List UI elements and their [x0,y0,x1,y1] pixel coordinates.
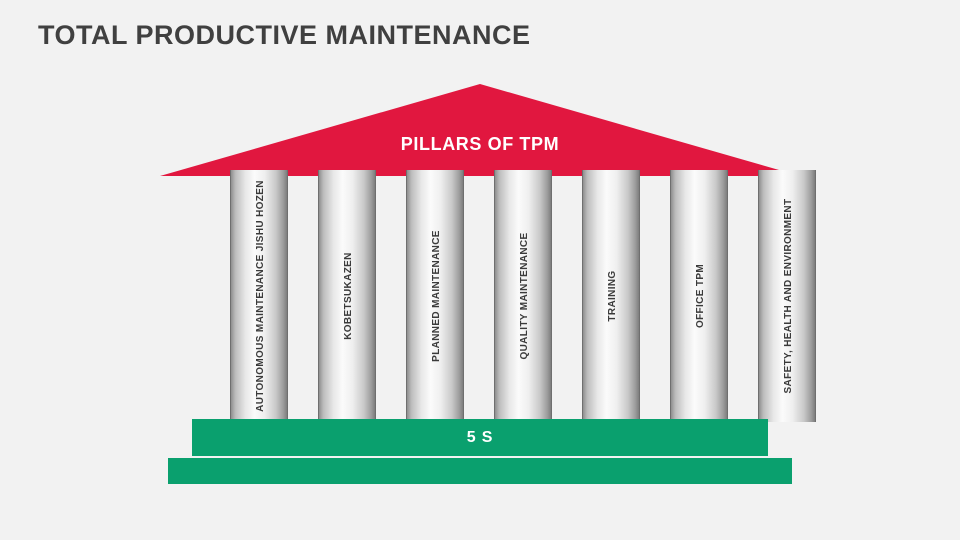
pillar-label: SAFETY, HEALTH AND ENVIRONMENT [759,170,816,422]
pillar-label-wrap: KOBETSUKAZEN [319,170,376,422]
page-title: TOTAL PRODUCTIVE MAINTENANCE [38,20,531,51]
pillar-label-wrap: PLANNED MAINTENANCE [407,170,464,422]
pillar-label-wrap: TRAINING [583,170,640,422]
roof-triangle-icon [160,84,800,176]
base-lower-block [168,458,792,484]
roof-label: PILLARS OF TPM [160,134,800,155]
pillar-label: AUTONOMOUS MAINTENANCE JISHU HOZEN [231,170,288,422]
pillar-training[interactable]: TRAINING [582,170,640,422]
pillar-label: TRAINING [583,170,640,422]
pillar-office-tpm[interactable]: OFFICE TPM [670,170,728,422]
pillar-planned-maintenance[interactable]: PLANNED MAINTENANCE [406,170,464,422]
pillar-label: QUALITY MAINTENANCE [495,170,552,422]
pillar-group: AUTONOMOUS MAINTENANCE JISHU HOZEN KOBET… [160,170,800,422]
pillar-autonomous-maintenance[interactable]: AUTONOMOUS MAINTENANCE JISHU HOZEN [230,170,288,422]
pillar-label: PLANNED MAINTENANCE [407,170,464,422]
roof-shape: PILLARS OF TPM [160,84,800,176]
slide-canvas: TOTAL PRODUCTIVE MAINTENANCE PILLARS OF … [0,0,960,540]
pillar-label-wrap: SAFETY, HEALTH AND ENVIRONMENT [759,170,816,422]
pillar-quality-maintenance[interactable]: QUALITY MAINTENANCE [494,170,552,422]
base-label: 5 S [192,419,768,456]
pillar-safety-health-environment[interactable]: SAFETY, HEALTH AND ENVIRONMENT [758,170,816,422]
base-upper-block: 5 S [192,419,768,456]
pillar-label: OFFICE TPM [671,170,728,422]
pillar-kobetsukazen[interactable]: KOBETSUKAZEN [318,170,376,422]
pillar-label-wrap: OFFICE TPM [671,170,728,422]
pillar-label-wrap: QUALITY MAINTENANCE [495,170,552,422]
pillar-label-wrap: AUTONOMOUS MAINTENANCE JISHU HOZEN [231,170,288,422]
pillar-label: KOBETSUKAZEN [319,170,376,422]
